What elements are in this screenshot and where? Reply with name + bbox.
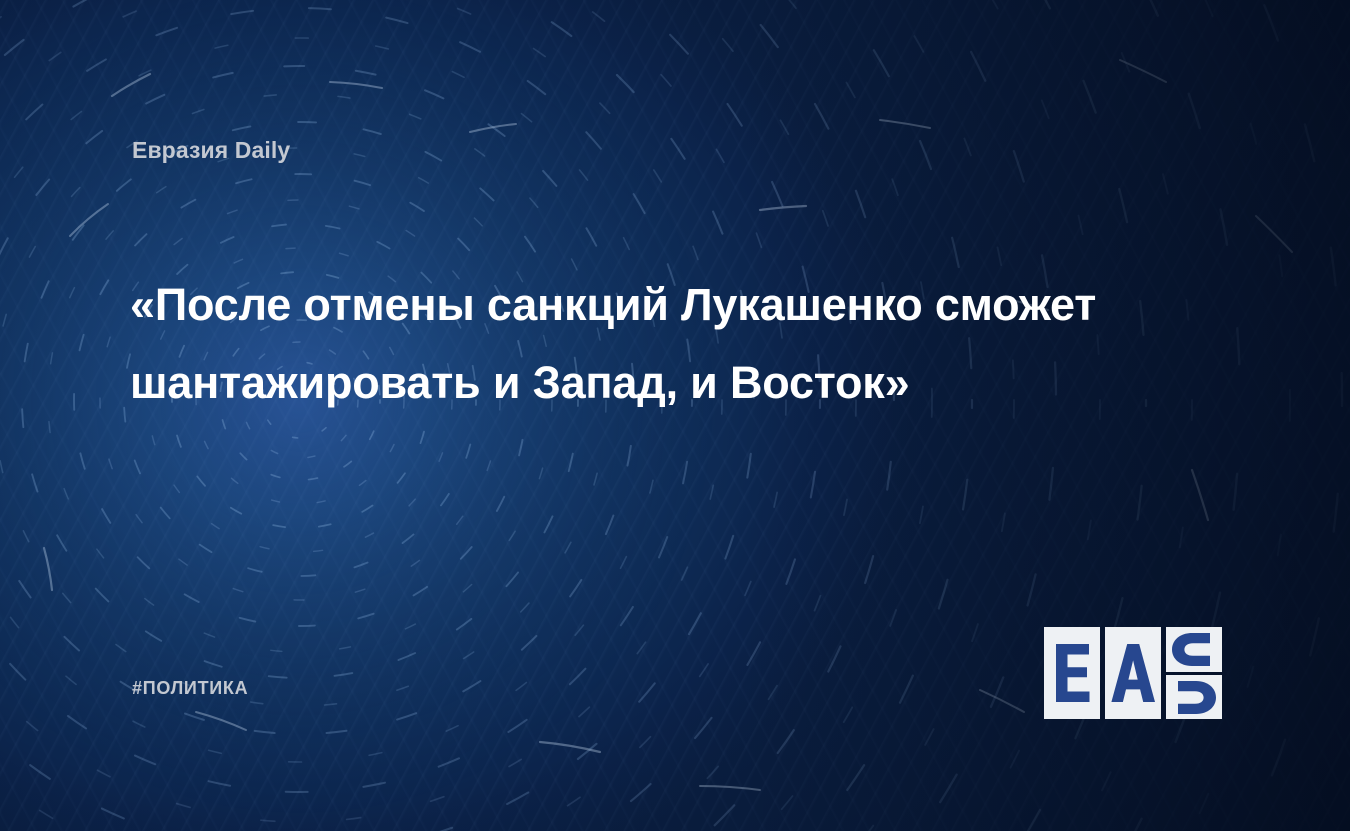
logo-tile-d-split [1166,627,1222,719]
eadaily-logo[interactable] [1044,627,1222,719]
logo-tile-a [1105,627,1161,719]
category-tag[interactable]: #ПОЛИТИКА [132,678,248,699]
logo-d-upper-mirrored [1166,627,1222,672]
logo-tile-e [1044,627,1100,719]
site-name: Евразия Daily [132,137,290,164]
card-content: Евразия Daily «После отмены санкций Лука… [0,0,1350,831]
page-title: «После отмены санкций Лукашенко сможет ш… [130,266,1140,422]
share-card: Евразия Daily «После отмены санкций Лука… [0,0,1350,831]
logo-d-lower-mirrored [1166,675,1222,720]
